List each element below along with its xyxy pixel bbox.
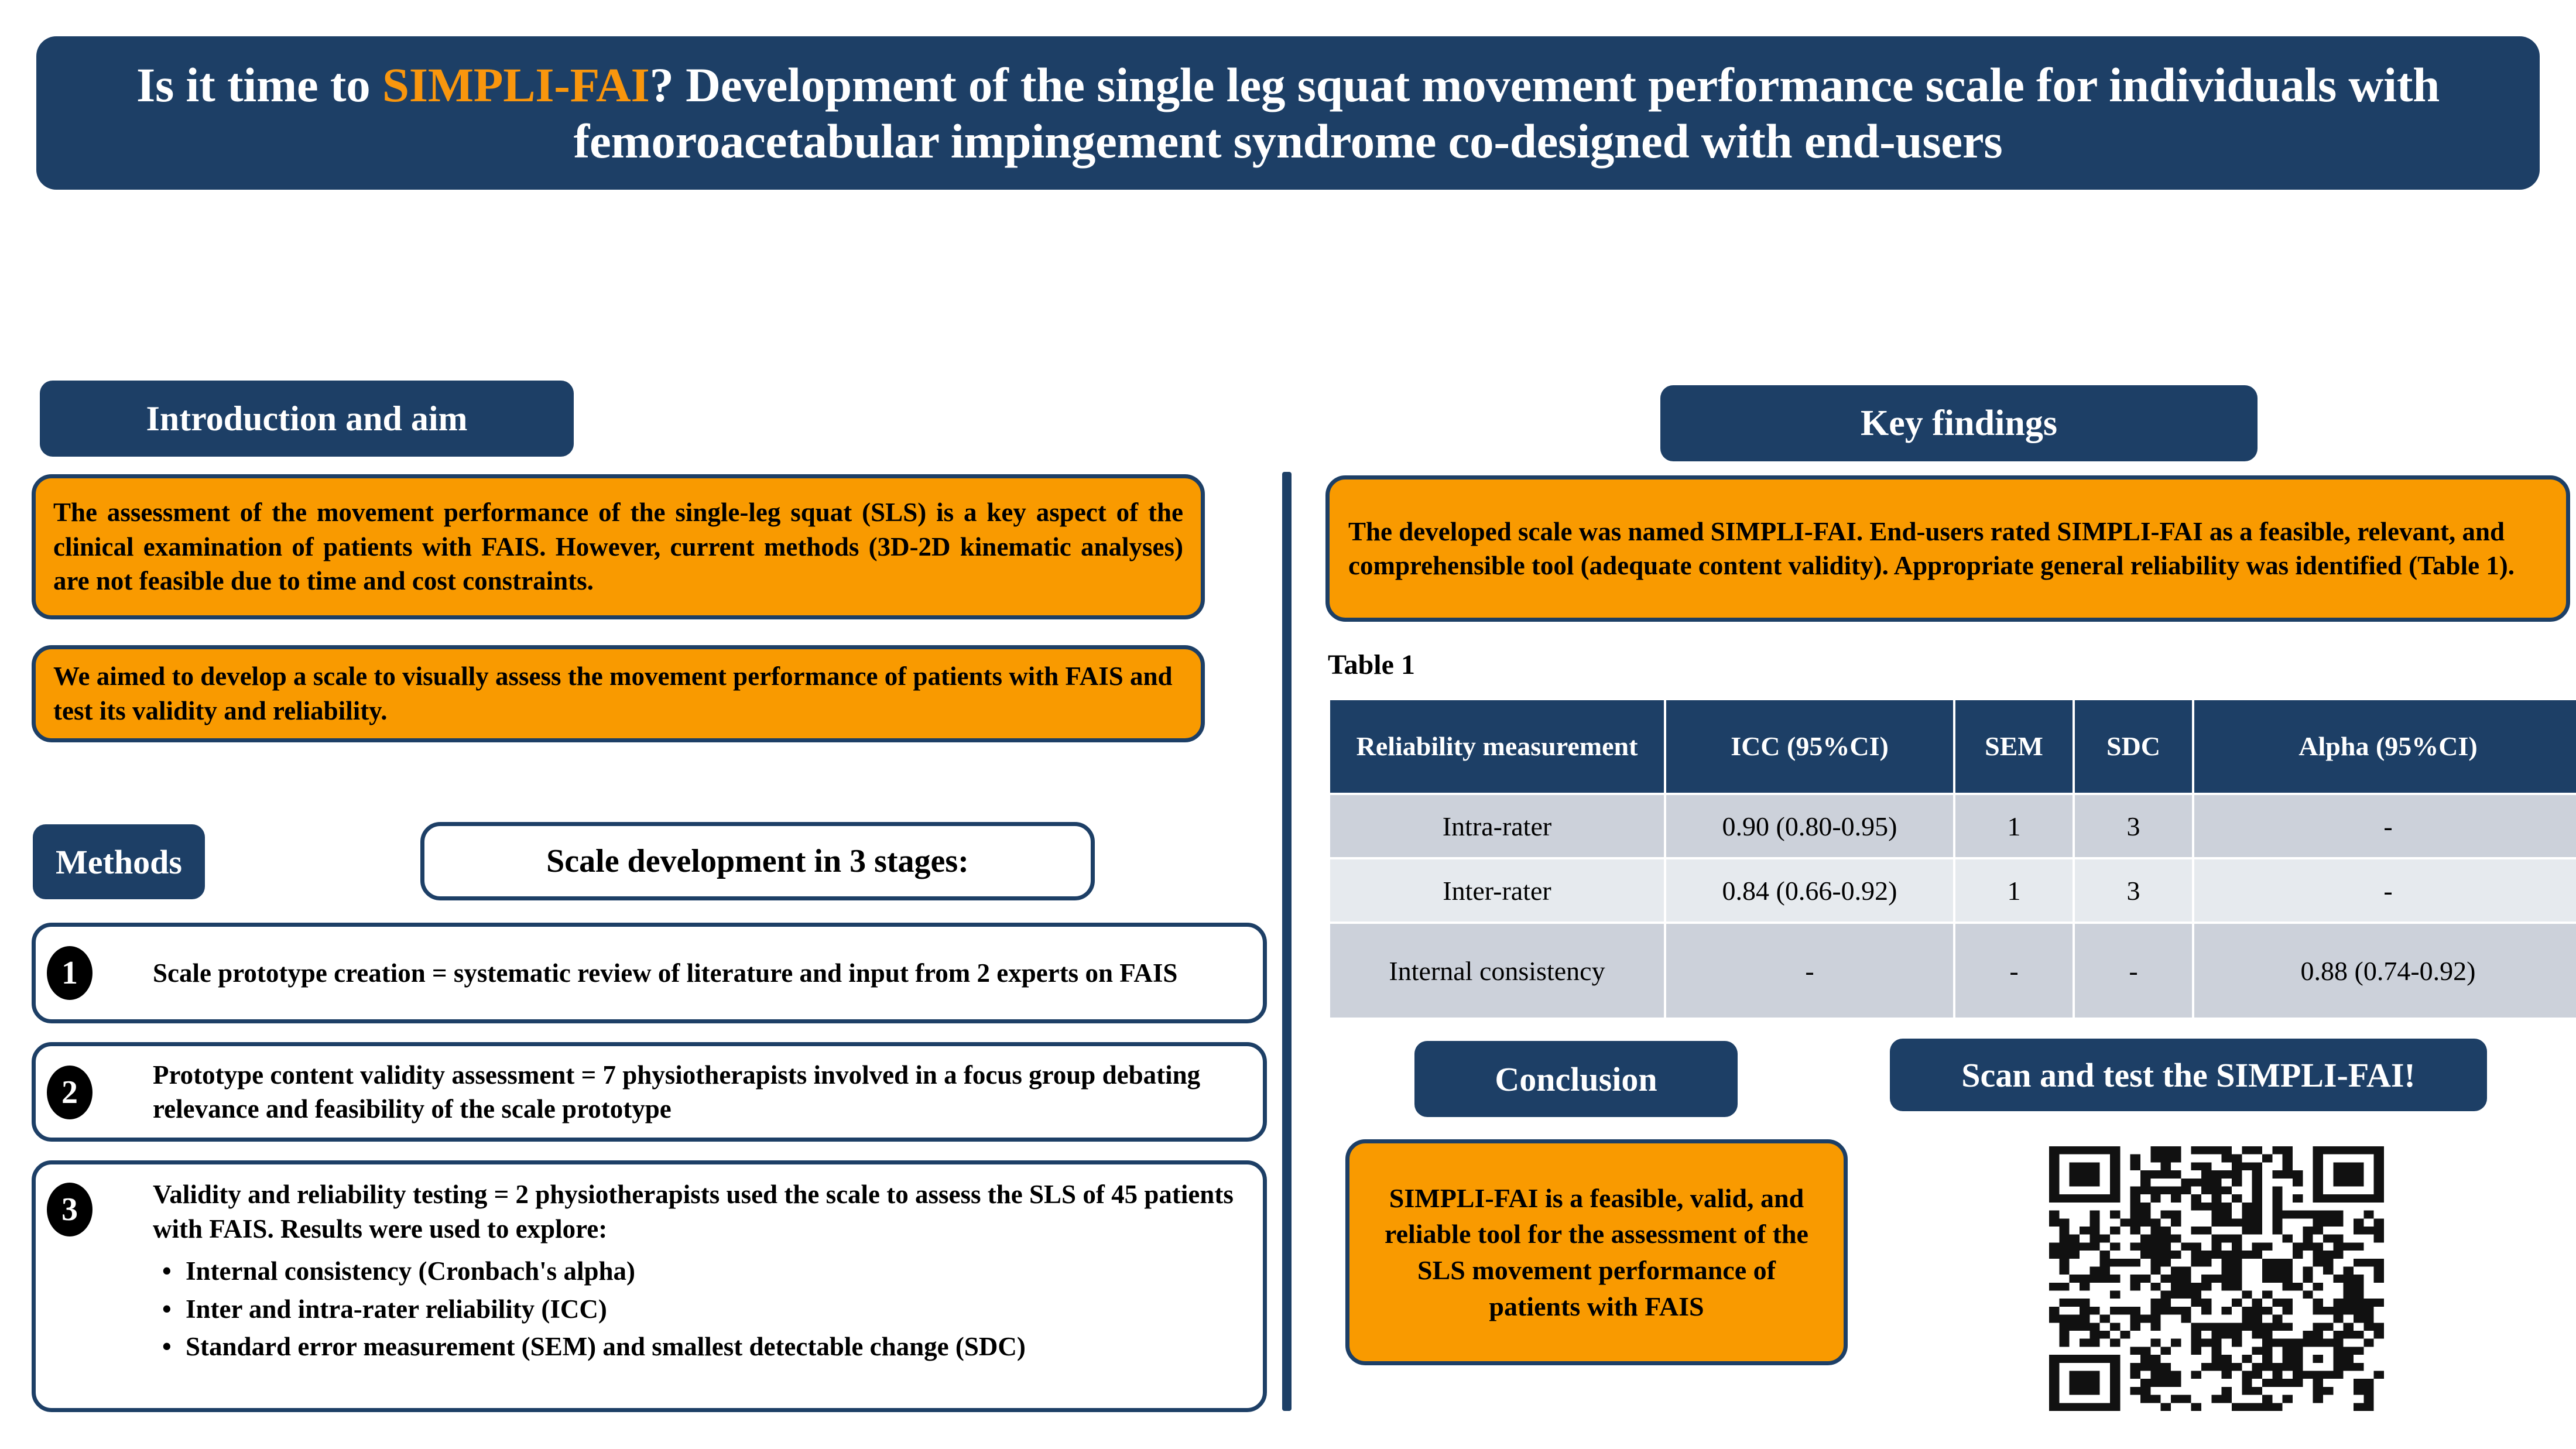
- column-divider: [1282, 472, 1292, 1411]
- methods-stage-2-number: 2: [47, 1066, 93, 1119]
- poster-title-banner: Is it time to SIMPLI-FAI? Development of…: [36, 36, 2540, 190]
- section-header-introduction: Introduction and aim: [40, 381, 574, 457]
- methods-stage-3-bullet-3: Standard error measurement (SEM) and sma…: [186, 1330, 1245, 1364]
- title-accent-simpli-fai: SIMPLI-FAI: [382, 58, 650, 112]
- section-header-scan-label: Scan and test the SIMPLI-FAI!: [1961, 1056, 2416, 1095]
- introduction-background-box: The assessment of the movement performan…: [32, 474, 1205, 619]
- qr-code[interactable]: [2049, 1146, 2384, 1411]
- title-prefix: Is it time to: [136, 58, 382, 112]
- conclusion-box: SIMPLI-FAI is a feasible, valid, and rel…: [1345, 1139, 1848, 1365]
- key-findings-text: The developed scale was named SIMPLI-FAI…: [1348, 515, 2547, 583]
- introduction-aim-text: We aimed to develop a scale to visually …: [53, 659, 1183, 729]
- table-col-sdc: SDC: [2075, 700, 2192, 793]
- table-cell-internal-consistency-sdc: -: [2075, 924, 2192, 1018]
- methods-stage-1-number: 1: [47, 946, 93, 1000]
- table-cell-internal-consistency-alpha: 0.88 (0.74-0.92): [2194, 924, 2576, 1018]
- methods-stage-3-bullet-1: Internal consistency (Cronbach's alpha): [186, 1254, 1245, 1289]
- table-cell-internal-consistency-sem: -: [1955, 924, 2073, 1018]
- table-cell-internal-consistency-label: Internal consistency: [1330, 924, 1664, 1018]
- methods-stage-3-number-label: 3: [61, 1191, 78, 1228]
- table-row: Intra-rater 0.90 (0.80-0.95) 1 3 -: [1330, 795, 2576, 857]
- conclusion-text: SIMPLI-FAI is a feasible, valid, and rel…: [1371, 1180, 1823, 1325]
- table-cell-intra-rater-sem: 1: [1955, 795, 2073, 857]
- table-col-icc: ICC (95%CI): [1666, 700, 1953, 793]
- title-suffix: ? Development of the single leg squat mo…: [574, 58, 2440, 168]
- methods-subtitle-box: Scale development in 3 stages:: [420, 822, 1095, 900]
- table-header-row: Reliability measurement ICC (95%CI) SEM …: [1330, 700, 2576, 793]
- qr-code-canvas[interactable]: [2049, 1146, 2384, 1411]
- methods-stage-3-text: Validity and reliability testing = 2 phy…: [153, 1177, 1245, 1246]
- table-cell-internal-consistency-icc: -: [1666, 924, 1953, 1018]
- methods-stage-3-bullet-list: Internal consistency (Cronbach's alpha) …: [153, 1254, 1245, 1364]
- table-col-sem: SEM: [1955, 700, 2073, 793]
- methods-stage-1-text: Scale prototype creation = systematic re…: [153, 956, 1245, 991]
- methods-stage-2-box: Prototype content validity assessment = …: [32, 1042, 1267, 1142]
- reliability-table: Reliability measurement ICC (95%CI) SEM …: [1328, 698, 2576, 1020]
- section-header-key-findings: Key findings: [1660, 385, 2258, 461]
- methods-stage-3-number: 3: [47, 1183, 93, 1236]
- section-header-key-findings-label: Key findings: [1861, 403, 2057, 444]
- table-cell-intra-rater-sdc: 3: [2075, 795, 2192, 857]
- table-cell-intra-rater-label: Intra-rater: [1330, 795, 1664, 857]
- table-cell-inter-rater-label: Inter-rater: [1330, 859, 1664, 922]
- table-cell-inter-rater-icc: 0.84 (0.66-0.92): [1666, 859, 1953, 922]
- section-header-methods: Methods: [33, 824, 205, 899]
- section-header-introduction-label: Introduction and aim: [146, 399, 467, 439]
- methods-stage-1-box: Scale prototype creation = systematic re…: [32, 923, 1267, 1023]
- methods-stage-3-content: Validity and reliability testing = 2 phy…: [153, 1177, 1245, 1368]
- methods-subtitle-text: Scale development in 3 stages:: [440, 842, 1075, 880]
- section-header-scan: Scan and test the SIMPLI-FAI!: [1890, 1039, 2487, 1111]
- methods-stage-3-bullet-2: Inter and intra-rater reliability (ICC): [186, 1292, 1245, 1327]
- key-findings-box: The developed scale was named SIMPLI-FAI…: [1325, 475, 2570, 622]
- table-row: Inter-rater 0.84 (0.66-0.92) 1 3 -: [1330, 859, 2576, 922]
- methods-stage-3-box: Validity and reliability testing = 2 phy…: [32, 1160, 1267, 1412]
- table-row: Internal consistency - - - 0.88 (0.74-0.…: [1330, 924, 2576, 1018]
- table-cell-inter-rater-alpha: -: [2194, 859, 2576, 922]
- section-header-methods-label: Methods: [56, 842, 182, 882]
- table-cell-inter-rater-sem: 1: [1955, 859, 2073, 922]
- methods-stage-2-text: Prototype content validity assessment = …: [153, 1058, 1245, 1126]
- section-header-conclusion-label: Conclusion: [1495, 1060, 1657, 1099]
- methods-stage-2-number-label: 2: [61, 1074, 78, 1111]
- table-caption: Table 1: [1328, 649, 1415, 681]
- page-title: Is it time to SIMPLI-FAI? Development of…: [64, 57, 2512, 170]
- section-header-conclusion: Conclusion: [1414, 1041, 1738, 1117]
- introduction-aim-box: We aimed to develop a scale to visually …: [32, 645, 1205, 742]
- table-col-reliability-measurement: Reliability measurement: [1330, 700, 1664, 793]
- table-cell-intra-rater-icc: 0.90 (0.80-0.95): [1666, 795, 1953, 857]
- methods-stage-1-number-label: 1: [61, 954, 78, 992]
- table-cell-intra-rater-alpha: -: [2194, 795, 2576, 857]
- introduction-background-text: The assessment of the movement performan…: [53, 495, 1183, 598]
- table-col-alpha: Alpha (95%CI): [2194, 700, 2576, 793]
- table-cell-inter-rater-sdc: 3: [2075, 859, 2192, 922]
